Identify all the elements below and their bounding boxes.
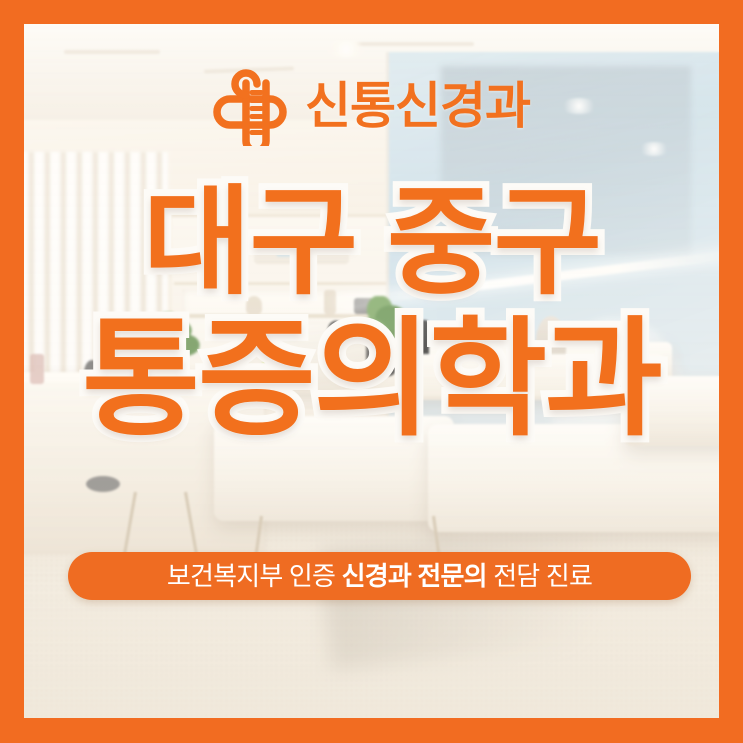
- spine-cross-icon: [213, 66, 287, 146]
- headline-line-1: 대구 중구: [24, 184, 719, 302]
- promo-card: 신통신경과 대구 중구 통증의학과 보건복지부 인증 신경과 전문의 전담 진료: [0, 0, 743, 743]
- overlay-content: 신통신경과 대구 중구 통증의학과 보건복지부 인증 신경과 전문의 전담 진료: [24, 24, 719, 718]
- brand-lockup: 신통신경과: [24, 66, 719, 146]
- banner-prefix: 보건복지부 인증: [167, 561, 342, 591]
- headline-line-2: 통증의학과: [24, 316, 719, 444]
- banner-text: 보건복지부 인증 신경과 전문의 전담 진료: [167, 563, 592, 589]
- page-title: 대구 중구 통증의학과: [24, 184, 719, 444]
- banner-emphasis: 신경과 전문의: [342, 561, 487, 591]
- brand-name: 신통신경과: [305, 81, 530, 131]
- status-banner: 보건복지부 인증 신경과 전문의 전담 진료: [68, 552, 691, 600]
- banner-suffix: 전담 진료: [487, 561, 592, 591]
